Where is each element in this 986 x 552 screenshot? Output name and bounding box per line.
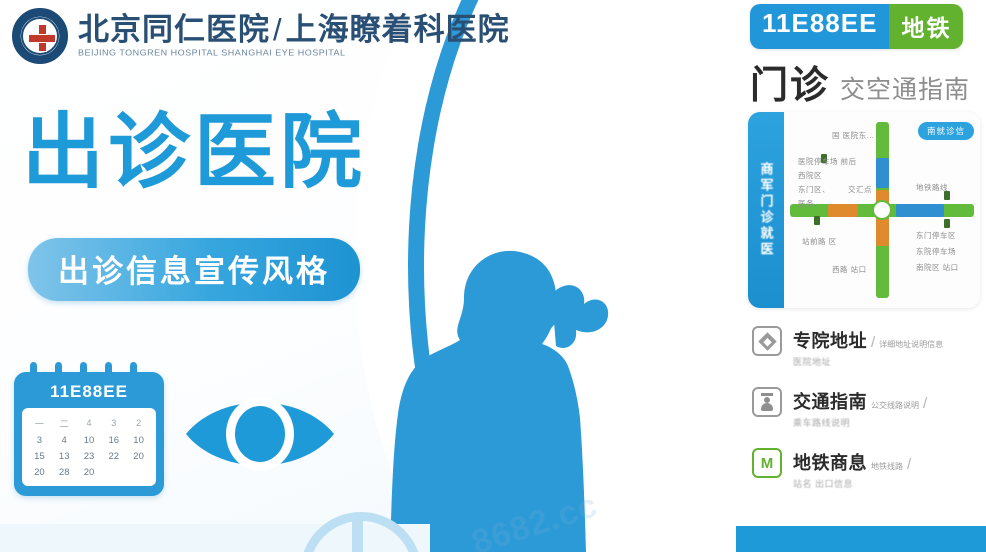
map-label: 交汇点 <box>848 184 872 195</box>
person-with-flower-silhouette-icon <box>368 232 638 552</box>
eye-icon <box>180 388 340 480</box>
calendar-day <box>101 464 126 480</box>
info-list: 专院地址 / 详细地址说明信息 医院地址 交通指南 公交线路说明 / <box>752 326 976 509</box>
calendar-week-row: 20 28 20 <box>27 464 151 480</box>
calendar-body: 11E88EE 一 二 4 3 2 3 4 10 16 10 <box>14 372 164 496</box>
poster-root: 北 京 同 仁 中 兴 医 院 8682.cc 北京同仁医院/上海瞭着科医院 B… <box>0 0 986 552</box>
list-item-slash: / <box>907 456 911 473</box>
map-label: 西路 站口 <box>832 264 867 275</box>
map-card[interactable]: 商军门诊就医 南就诊信 国 医院东… 医院停车场 前后 西院区 东门区、 <box>748 112 980 308</box>
calendar-widget: 11E88EE 一 二 4 3 2 3 4 10 16 10 <box>14 372 164 496</box>
page-title: 出诊医院 <box>22 112 366 194</box>
calendar-day[interactable]: 13 <box>52 448 77 464</box>
calendar-day[interactable]: 23 <box>77 448 102 464</box>
list-item-title: 专院地址 <box>793 327 867 353</box>
map-label: 东门停车区 <box>916 230 956 241</box>
decor-bar <box>352 518 363 552</box>
calendar-week-row: 15 13 23 22 20 <box>27 448 151 464</box>
list-item-note: 地铁线路 <box>871 463 903 472</box>
calendar-day[interactable]: 10 <box>126 432 151 448</box>
map-label: 南院区 站口 <box>916 262 959 273</box>
brand-logo: 北京同仁医院/上海瞭着科医院 BEIJING TONGREN HOSPITAL … <box>12 8 510 64</box>
list-item-sub: 医院地址 <box>793 355 943 368</box>
map-label: 西院区 <box>798 170 822 181</box>
brand-separator: / <box>270 12 286 47</box>
map-label: 站前路 区 <box>802 236 837 247</box>
list-item-note: 公交线路说明 <box>871 402 919 411</box>
list-item[interactable]: 专院地址 / 详细地址说明信息 医院地址 <box>752 326 976 368</box>
list-item-sub: 站名 出口信息 <box>793 477 911 490</box>
panel-title-cn: 门诊 <box>750 54 830 109</box>
list-item-sub: 乘车路线说明 <box>793 416 927 429</box>
calendar-grid: 一 二 4 3 2 3 4 10 16 10 15 <box>22 408 156 486</box>
calendar-weekday: 4 <box>77 414 102 432</box>
map-label: 医院停车场 前后 <box>798 156 857 167</box>
panel-title: 门诊 交空通指南 <box>750 54 970 109</box>
panel-bottom-bar <box>736 526 986 552</box>
calendar-day[interactable]: 20 <box>27 464 52 480</box>
map-stop-east2 <box>944 219 950 228</box>
calendar-day[interactable]: 4 <box>52 432 77 448</box>
brand-name-row: 北京同仁医院/上海瞭着科医院 <box>78 14 510 47</box>
hospital-cross-emblem-icon <box>12 8 68 64</box>
map-segment-orange-south <box>876 218 889 246</box>
map-label: 国 医院东… <box>832 130 875 141</box>
map-pill-label: 南就诊信 <box>918 122 974 140</box>
calendar-day[interactable]: 20 <box>126 448 151 464</box>
right-panel: 11E88EE 地铁 门诊 交空通指南 商军门诊就医 <box>736 0 986 552</box>
subtitle-pill: 出诊信息宣传风格 <box>28 238 360 301</box>
list-item[interactable]: M 地铁商息 地铁线路 / 站名 出口信息 <box>752 448 976 490</box>
calendar-day[interactable]: 15 <box>27 448 52 464</box>
map-label: 东门区、 <box>798 184 830 195</box>
map-label: 医务、 <box>798 198 822 209</box>
calendar-day <box>126 464 151 480</box>
calendar-day[interactable]: 10 <box>77 432 102 448</box>
calendar-day[interactable]: 22 <box>101 448 126 464</box>
map-label: 东院停车场 <box>916 246 956 257</box>
calendar-week-row: 3 4 10 16 10 <box>27 432 151 448</box>
map-side-label: 商军门诊就医 <box>748 112 784 308</box>
map-segment-orange-west <box>828 204 858 217</box>
calendar-weekday: 二 <box>52 414 77 432</box>
brand-name-cn: 北京同仁医院 <box>78 12 270 47</box>
map-segment-blue-east <box>896 204 944 217</box>
list-item-slash: / <box>923 395 927 412</box>
calendar-weekday-row: 一 二 4 3 2 <box>27 414 151 432</box>
calendar-weekday: 一 <box>27 414 52 432</box>
calendar-day[interactable]: 28 <box>52 464 77 480</box>
calendar-day[interactable]: 3 <box>27 432 52 448</box>
list-item-note: 详细地址说明信息 <box>879 341 943 350</box>
list-item-text: 地铁商息 地铁线路 / 站名 出口信息 <box>793 448 911 490</box>
panel-title-sub: 交空通指南 <box>840 70 970 106</box>
list-item-slash: / <box>871 334 875 351</box>
list-item[interactable]: 交通指南 公交线路说明 / 乘车路线说明 <box>752 387 976 429</box>
calendar-weekday: 3 <box>101 414 126 432</box>
traffic-guide-icon <box>752 387 782 417</box>
list-item-text: 交通指南 公交线路说明 / 乘车路线说明 <box>793 387 927 429</box>
badge-tag[interactable]: 地铁 <box>889 4 963 49</box>
calendar-day[interactable]: 16 <box>101 432 126 448</box>
map-canvas[interactable]: 南就诊信 国 医院东… 医院停车场 前后 西院区 东门区、 医务、 交汇点 地铁… <box>784 112 980 308</box>
panel-bottom-round <box>736 500 986 526</box>
calendar-weekday: 2 <box>126 414 151 432</box>
list-item-title: 地铁商息 <box>793 449 867 475</box>
calendar-header: 11E88EE <box>22 380 156 408</box>
metro-m-icon: M <box>752 448 782 478</box>
brand-text: 北京同仁医院/上海瞭着科医院 BEIJING TONGREN HOSPITAL … <box>78 14 510 58</box>
brand-name-cn2: 上海瞭着科医院 <box>286 12 510 47</box>
badge-code[interactable]: 11E88EE <box>750 4 889 49</box>
calendar-day[interactable]: 20 <box>77 464 102 480</box>
list-item-title: 交通指南 <box>793 388 867 414</box>
location-diamond-icon <box>752 326 782 356</box>
map-segment-blue-north <box>876 158 889 188</box>
list-item-text: 专院地址 / 详细地址说明信息 医院地址 <box>793 326 943 368</box>
map-stop-west <box>814 216 820 225</box>
map-junction <box>872 200 892 220</box>
map-label: 地铁路线 <box>916 182 948 193</box>
code-badge[interactable]: 11E88EE 地铁 <box>750 4 963 49</box>
brand-name-en: BEIJING TONGREN HOSPITAL SHANGHAI EYE HO… <box>78 48 510 57</box>
